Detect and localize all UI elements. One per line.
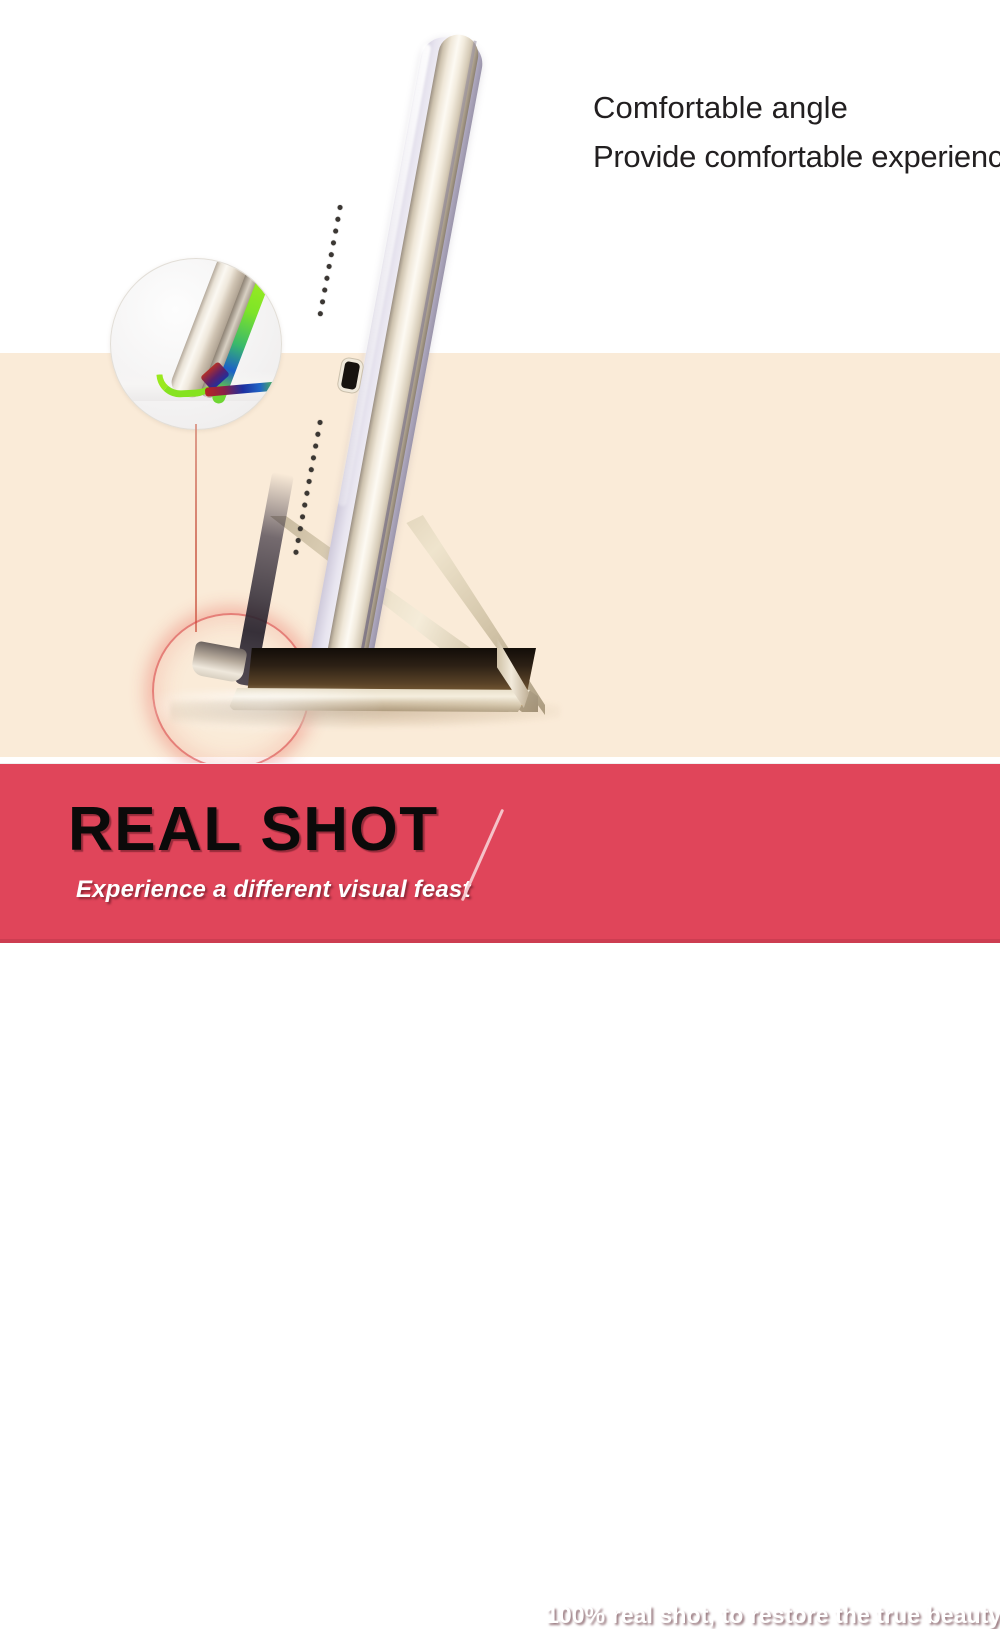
real-shot-banner: REAL SHOT Experience a different visual … <box>0 763 1000 943</box>
banner-tagline: 100% real shot, to restore the true beau… <box>546 1602 1000 1629</box>
banner-subheading: Experience a different visual feast <box>76 876 471 904</box>
contact-shadow <box>170 700 560 728</box>
charging-port <box>341 361 361 390</box>
banner-heading: REAL SHOT <box>68 799 439 861</box>
banner-content: REAL SHOT Experience a different visual … <box>0 764 1000 943</box>
speaker-holes-upper <box>316 205 343 324</box>
marketing-image: Comfortable angle Provide comfortable ex… <box>0 0 1000 958</box>
banner-bottom-edge <box>0 939 1000 943</box>
